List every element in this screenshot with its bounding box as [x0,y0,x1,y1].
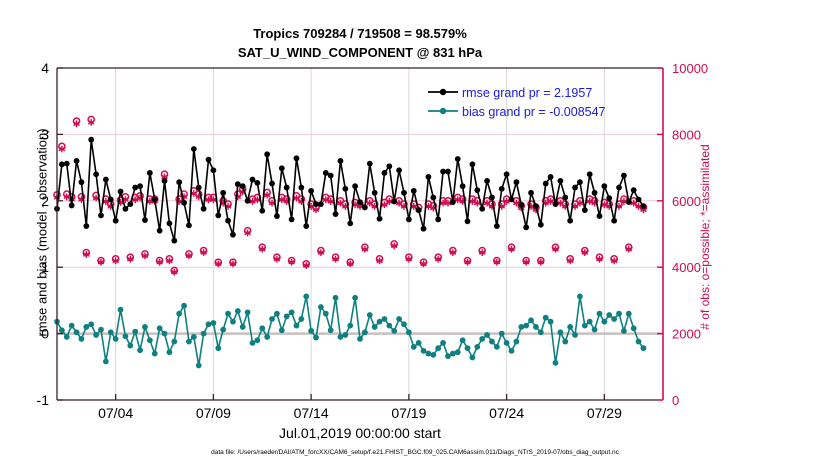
bias-data-point [308,328,314,334]
bias-data-point [606,312,612,318]
y-ticklabel-right: 0 [672,393,679,408]
bias-data-point [259,325,265,331]
rmse-data-point [386,163,392,169]
rmse-data-point [470,161,476,167]
bias-data-point [201,331,207,337]
bias-data-point [391,328,397,334]
bias-data-point [528,317,534,323]
bias-data-point [518,324,524,330]
bias-data-point [557,329,563,335]
rmse-data-point [157,228,163,234]
y-ticklabel-left: -1 [37,392,50,408]
bias-data-point [303,294,309,300]
bias-data-point [333,295,339,301]
rmse-data-point [562,195,568,201]
rmse-data-point [181,200,187,206]
bias-data-point [538,329,544,335]
bias-data-point [401,321,407,327]
bias-data-point [450,351,456,357]
rmse-data-point [611,218,617,224]
bias-data-point [430,352,436,358]
bias-data-point [621,328,627,334]
bias-data-point [426,351,432,357]
rmse-data-point [323,170,329,176]
rmse-data-point [171,238,177,244]
rmse-data-point [367,161,373,167]
bias-data-point [186,339,192,345]
bias-data-point [582,323,588,329]
y-ticklabel-left: 1 [41,259,49,275]
rmse-data-point [132,185,138,191]
bias-data-point [597,311,603,317]
y-ticklabel-left: 0 [41,326,49,342]
bias-data-point [294,323,300,329]
rmse-data-point [113,218,119,224]
bias-data-point [167,349,173,355]
rmse-data-point [79,179,85,185]
bias-data-point [489,339,495,345]
rmse-data-point [186,222,192,228]
bias-data-point [191,334,197,340]
rmse-data-point [474,187,480,193]
x-ticklabel: 07/19 [391,405,426,421]
y-ticklabel-left: 2 [41,193,49,209]
rmse-data-point [196,185,202,191]
bias-data-point [347,323,353,329]
rmse-data-point [98,213,104,219]
bias-data-point [440,340,446,346]
rmse-data-point [250,177,256,183]
rmse-data-point [572,185,578,191]
rmse-data-point [543,181,549,187]
bias-data-point [137,347,143,353]
rmse-data-point [176,179,182,185]
rmse-data-point [333,211,339,217]
rmse-data-point [601,183,607,189]
bias-data-point [59,327,65,333]
bias-data-point [460,337,466,343]
bias-data-point [264,334,270,340]
bias-data-point [328,327,334,333]
bias-data-point [342,332,348,338]
bias-data-point [108,329,114,335]
rmse-data-point [201,206,207,212]
rmse-data-point [484,178,490,184]
y-ticklabel-right: 2000 [672,327,701,342]
bias-data-point [215,345,221,351]
rmse-data-point [254,180,260,186]
bias-data-point [406,329,412,335]
bias-data-point [123,333,129,339]
bias-data-point [240,324,246,330]
bias-data-point [79,336,85,342]
bias-data-point [113,336,119,342]
rmse-data-point [74,158,80,164]
rmse-data-point [64,161,70,167]
rmse-data-point [587,171,593,177]
bias-data-point [509,348,515,354]
bias-data-point [254,337,260,343]
x-ticklabel: 07/24 [489,405,524,421]
rmse-data-point [220,190,226,196]
x-ticklabel: 07/14 [294,405,329,421]
bias-data-point [470,355,476,361]
rmse-data-point [621,173,627,179]
bias-data-point [377,319,383,325]
rmse-data-point [69,203,75,209]
rmse-data-point [455,156,461,162]
rmse-data-point [225,218,231,224]
bias-data-point [157,325,163,331]
bias-data-point [577,294,583,300]
y-ticklabel-right: 6000 [672,194,701,209]
rmse-data-point [127,201,133,207]
bias-data-point [64,334,70,340]
rmse-data-point [215,213,221,219]
rmse-data-point [523,224,529,230]
bias-data-point [162,331,168,337]
bias-data-point [230,319,236,325]
bias-data-point [279,327,285,333]
rmse-data-point [465,218,471,224]
rmse-data-point [88,137,94,143]
rmse-data-point [509,197,515,203]
legend-label-1: bias grand pr = -0.008547 [462,105,606,119]
rmse-data-point [162,178,168,184]
rmse-data-point [636,197,642,203]
rmse-data-point [137,183,143,189]
bias-data-point [553,360,559,366]
rmse-data-point [421,226,427,232]
rmse-data-point [362,205,368,211]
bias-data-point [465,345,471,351]
bias-data-point [98,327,104,333]
bias-data-point [357,336,363,342]
rmse-data-point [294,155,300,161]
rmse-data-point [123,206,129,212]
rmse-data-point [83,223,89,229]
legend-marker-0 [440,89,446,95]
rmse-data-point [230,232,236,238]
rmse-data-point [303,223,309,229]
rmse-data-point [338,158,344,164]
rmse-data-point [279,165,285,171]
rmse-data-point [577,179,583,185]
rmse-data-point [538,222,544,228]
bias-data-point [313,335,319,341]
bias-data-point [543,315,549,321]
rmse-data-point [377,216,383,222]
rmse-data-point [152,197,158,203]
chart-page: Tropics 709284 / 719508 = 98.579% SAT_U_… [0,0,830,470]
bias-data-point [533,324,539,330]
rmse-data-point [118,189,124,195]
rmse-data-point [430,195,436,201]
bias-data-point [435,345,441,351]
bias-data-point [562,339,568,345]
chart-plot-area: -101234020004000600080001000007/0407/090… [0,0,830,470]
rmse-data-point [191,146,197,152]
bias-data-point [641,345,647,351]
bias-data-point [69,323,75,329]
rmse-data-point [308,188,314,194]
bias-data-point [592,327,598,333]
rmse-data-point [406,216,412,222]
y-ticklabel-right: 10000 [672,61,708,76]
rmse-data-point [401,190,407,196]
rmse-data-point [592,190,598,196]
rmse-data-point [93,171,99,177]
rmse-data-point [411,188,417,194]
rmse-data-point [342,186,348,192]
bias-data-point [479,336,485,342]
bias-data-point [601,319,607,325]
bias-data-point [513,339,519,345]
bias-data-point [250,340,256,346]
bias-data-point [484,332,490,338]
bias-data-point [225,311,231,317]
rmse-data-point [318,201,324,207]
bias-data-point [631,325,637,331]
bias-data-point [362,329,368,335]
rmse-data-point [240,183,246,189]
bias-data-point [323,311,329,317]
y-ticklabel-right: 4000 [672,260,701,275]
x-ticklabel: 07/04 [98,405,133,421]
rmse-data-point [504,171,510,177]
bias-data-point [372,324,378,330]
bias-data-point [289,309,295,315]
rmse-data-point [59,161,65,167]
bias-data-point [318,304,324,310]
rmse-data-point [548,174,554,180]
rmse-data-point [259,208,265,214]
bias-data-point [396,316,402,322]
rmse-data-point [626,199,632,205]
data-file-footer: data file: /Users/raeder/DAI/ATM_forcXX/… [0,449,830,456]
rmse-data-point [450,199,456,205]
bias-data-point [626,311,632,317]
bias-data-point [616,311,622,317]
rmse-data-point [479,206,485,212]
rmse-data-point [435,216,441,222]
bias-data-point [74,329,80,335]
rmse-data-point [641,203,647,209]
bias-data-point [386,323,392,329]
bias-data-point [147,337,153,343]
rmse-data-point [426,174,432,180]
rmse-data-point [372,190,378,196]
rmse-data-point [269,181,275,187]
bias-data-point [274,311,280,317]
bias-data-point [499,331,505,337]
bias-data-point [93,332,99,338]
y-ticklabel-left: 3 [41,126,49,142]
bias-data-point [171,339,177,345]
bias-data-point [142,324,148,330]
bias-series-line [57,296,643,365]
rmse-data-point [396,167,402,173]
bias-data-point [567,324,573,330]
rmse-data-point [553,201,559,207]
rmse-data-point [328,173,334,179]
bias-data-point [127,343,133,349]
bias-data-point [474,344,480,350]
rmse-data-point [289,216,295,222]
bias-data-point [88,321,94,327]
bias-data-point [118,307,124,313]
bias-data-point [421,348,427,354]
y-ticklabel-left: 4 [41,60,49,76]
rmse-data-point [142,217,148,223]
rmse-data-point [357,199,363,205]
rmse-data-point [557,178,563,184]
rmse-data-point [352,183,358,189]
rmse-data-point [210,167,216,173]
rmse-data-point [606,195,612,201]
rmse-data-point [264,151,270,157]
rmse-data-point [284,185,290,191]
bias-data-point [611,316,617,322]
rmse-data-point [513,179,519,185]
bias-data-point [269,316,275,322]
bias-data-point [416,340,422,346]
x-ticklabel: 07/29 [587,405,622,421]
bias-data-point [245,309,251,315]
bias-data-point [284,313,290,319]
rmse-data-point [582,207,588,213]
bias-data-point [636,339,642,345]
rmse-data-point [631,187,637,193]
bias-data-point [235,308,241,314]
rmse-data-point [147,170,153,176]
rmse-data-point [103,177,109,183]
rmse-data-point [460,183,466,189]
bias-data-point [523,323,529,329]
bias-data-point [176,311,182,317]
bias-data-point [206,321,212,327]
bias-data-point [548,319,554,325]
rmse-data-point [206,157,212,163]
bias-data-point [83,324,89,330]
bias-data-point [220,327,226,333]
x-ticklabel: 07/09 [196,405,231,421]
bias-data-point [504,340,510,346]
legend-label-0: rmse grand pr = 2.1957 [462,86,592,100]
rmse-data-point [489,195,495,201]
rmse-data-point [518,202,524,208]
rmse-data-point [347,220,353,226]
bias-data-point [352,295,358,301]
rmse-data-point [445,169,451,175]
rmse-data-point [499,186,505,192]
rmse-data-point [494,223,500,229]
bias-data-point [572,332,578,338]
rmse-data-point [382,170,388,176]
bias-data-point [132,329,138,335]
y-ticklabel-right: 8000 [672,127,701,142]
rmse-data-point [567,218,573,224]
bias-data-point [210,320,216,326]
bias-data-point [298,316,304,322]
rmse-data-point [298,185,304,191]
bias-data-point [181,303,187,309]
bias-data-point [455,349,461,355]
bias-data-point [411,344,417,350]
rmse-data-point [245,198,251,204]
bias-data-point [196,363,202,369]
rmse-data-point [391,199,397,205]
rmse-data-point [528,190,534,196]
rmse-data-point [274,213,280,219]
bias-data-point [445,353,451,359]
rmse-data-point [167,220,173,226]
bias-data-point [367,312,373,318]
rmse-data-point [597,213,603,219]
bias-data-point [587,319,593,325]
bias-data-point [382,316,388,322]
rmse-data-point [416,207,422,213]
bias-data-point [152,351,158,357]
rmse-data-point [616,185,622,191]
rmse-data-point [533,203,539,209]
legend-marker-1 [440,108,446,114]
bias-data-point [494,344,500,350]
rmse-data-point [108,197,114,203]
bias-data-point [103,359,109,365]
